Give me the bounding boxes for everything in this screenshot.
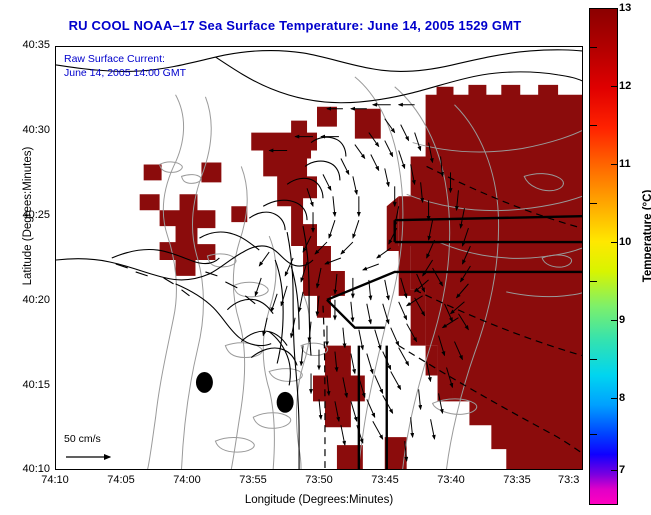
sst-figure: RU COOL NOAA–17 Sea Surface Temperature:… bbox=[0, 0, 651, 515]
ytick-0: 40:35 bbox=[6, 39, 50, 51]
colorbar-tick-12: 12 bbox=[619, 80, 631, 92]
page-title: RU COOL NOAA–17 Sea Surface Temperature:… bbox=[0, 18, 590, 33]
raw-current-annotation: Raw Surface Current: June 14, 2005 14:00… bbox=[64, 52, 186, 80]
quiver-key-label: 50 cm/s bbox=[64, 433, 120, 445]
ytick-5: 40:10 bbox=[6, 463, 50, 475]
colorbar-gradient bbox=[590, 9, 617, 504]
annotation-line-2: June 14, 2005 14:00 GMT bbox=[64, 66, 186, 80]
xtick-0: 74:10 bbox=[32, 474, 78, 486]
ytick-4: 40:15 bbox=[6, 379, 50, 391]
quiver-scale-key: 50 cm/s bbox=[64, 433, 120, 464]
xtick-3: 73:55 bbox=[230, 474, 276, 486]
colorbar-tick-8: 8 bbox=[619, 392, 625, 404]
colorbar-label: Temperature (°C) bbox=[642, 166, 651, 306]
map-canvas bbox=[56, 47, 582, 469]
xtick-4: 73:50 bbox=[296, 474, 342, 486]
colorbar-tick-7: 7 bbox=[619, 464, 625, 476]
colorbar-tick-9: 9 bbox=[619, 314, 625, 326]
right-arrow-icon bbox=[64, 450, 120, 464]
station-markers bbox=[196, 372, 294, 413]
x-axis-label: Longitude (Degrees:Minutes) bbox=[55, 494, 583, 506]
colorbar-tick-13: 13 bbox=[619, 2, 631, 14]
sst-raster bbox=[140, 85, 582, 469]
xtick-5: 73:45 bbox=[362, 474, 408, 486]
xtick-1: 74:05 bbox=[98, 474, 144, 486]
xtick-6: 73:40 bbox=[428, 474, 474, 486]
xtick-7: 73:35 bbox=[494, 474, 540, 486]
colorbar bbox=[589, 8, 618, 505]
xtick-2: 74:00 bbox=[164, 474, 210, 486]
colorbar-tick-10: 10 bbox=[619, 236, 631, 248]
y-axis-label: Latitude (Degrees:Minutes) bbox=[22, 136, 34, 296]
annotation-line-1: Raw Surface Current: bbox=[64, 52, 186, 66]
colorbar-tick-11: 11 bbox=[619, 158, 631, 170]
ytick-1: 40:30 bbox=[6, 124, 50, 136]
map-plot-area[interactable]: Raw Surface Current: June 14, 2005 14:00… bbox=[55, 46, 583, 470]
